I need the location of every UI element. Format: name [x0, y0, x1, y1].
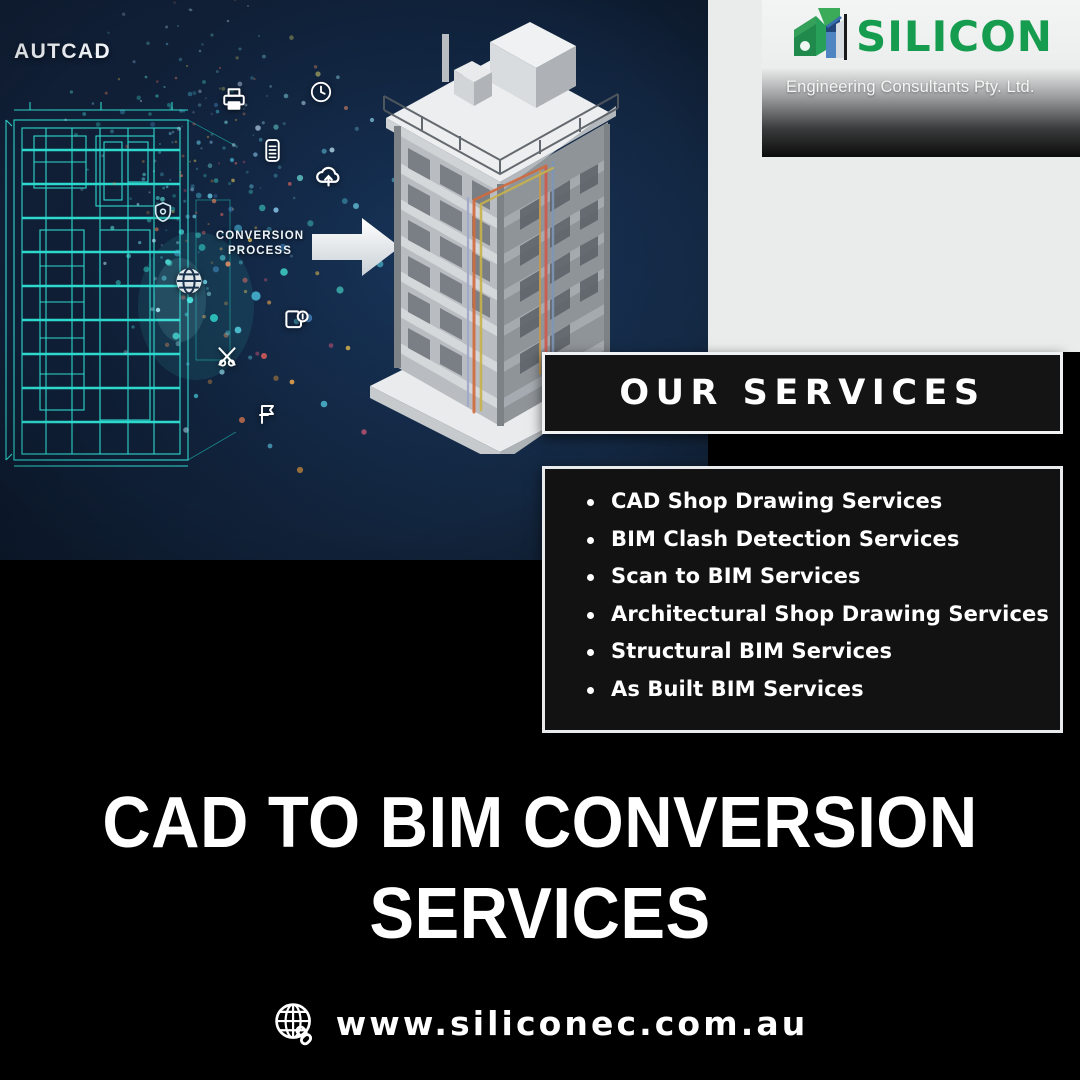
document-list-icon	[260, 138, 285, 163]
list-item[interactable]: As Built BIM Services	[585, 679, 1044, 700]
printer-icon	[221, 86, 247, 112]
service-label: Structural BIM Services	[611, 639, 892, 663]
list-item[interactable]: BIM Clash Detection Services	[585, 529, 1044, 550]
flag-marker-icon	[256, 402, 280, 426]
footer-website[interactable]: www.siliconec.com.au	[0, 1000, 1080, 1046]
bullet-icon	[587, 574, 594, 581]
bullet-icon	[587, 537, 594, 544]
file-security-icon	[283, 308, 310, 335]
list-item[interactable]: Structural BIM Services	[585, 641, 1044, 662]
autcad-source-label: AUTCAD	[14, 40, 111, 64]
headline-line-1: CAD TO BIM CONVERSION	[38, 778, 1042, 869]
isometric-building-logo-icon	[786, 6, 850, 68]
list-item[interactable]: CAD Shop Drawing Services	[585, 491, 1044, 512]
list-item[interactable]: Architectural Shop Drawing Services	[585, 604, 1044, 625]
brand-logo-card: SILICON Engineering Consultants Pty. Ltd…	[762, 0, 1080, 157]
bullet-icon	[587, 499, 594, 506]
service-label: CAD Shop Drawing Services	[611, 489, 942, 513]
service-label: BIM Clash Detection Services	[611, 527, 960, 551]
logo-wordmark: SILICON	[856, 16, 1053, 58]
scissors-cut-icon	[214, 344, 240, 370]
service-label: Scan to BIM Services	[611, 564, 861, 588]
service-label: As Built BIM Services	[611, 677, 864, 701]
shield-lock-icon	[152, 201, 174, 223]
poster-canvas: CONVERSION PROCESS AUTCAD SILICON Engine…	[0, 0, 1080, 1080]
conversion-process-label: CONVERSION PROCESS	[212, 229, 308, 259]
banner-title: OUR SERVICES	[619, 373, 985, 413]
page-title: CAD TO BIM CONVERSION SERVICES	[38, 778, 1042, 959]
clock-icon	[310, 81, 332, 103]
cloud-upload-icon	[314, 160, 343, 189]
bullet-icon	[587, 687, 594, 694]
headline-line-2: SERVICES	[38, 869, 1042, 960]
service-label: Architectural Shop Drawing Services	[611, 602, 1049, 626]
our-services-banner: OUR SERVICES	[542, 352, 1063, 434]
services-list: CAD Shop Drawing Services BIM Clash Dete…	[585, 491, 1044, 700]
globe-network-icon	[173, 265, 205, 297]
website-url[interactable]: www.siliconec.com.au	[336, 1004, 809, 1043]
list-item[interactable]: Scan to BIM Services	[585, 566, 1044, 587]
globe-link-icon	[272, 1000, 318, 1046]
logo-row: SILICON	[786, 6, 1053, 68]
bullet-icon	[587, 649, 594, 656]
logo-tagline: Engineering Consultants Pty. Ltd.	[786, 78, 1035, 97]
bullet-icon	[587, 612, 594, 619]
services-list-box: CAD Shop Drawing Services BIM Clash Dete…	[542, 466, 1063, 733]
